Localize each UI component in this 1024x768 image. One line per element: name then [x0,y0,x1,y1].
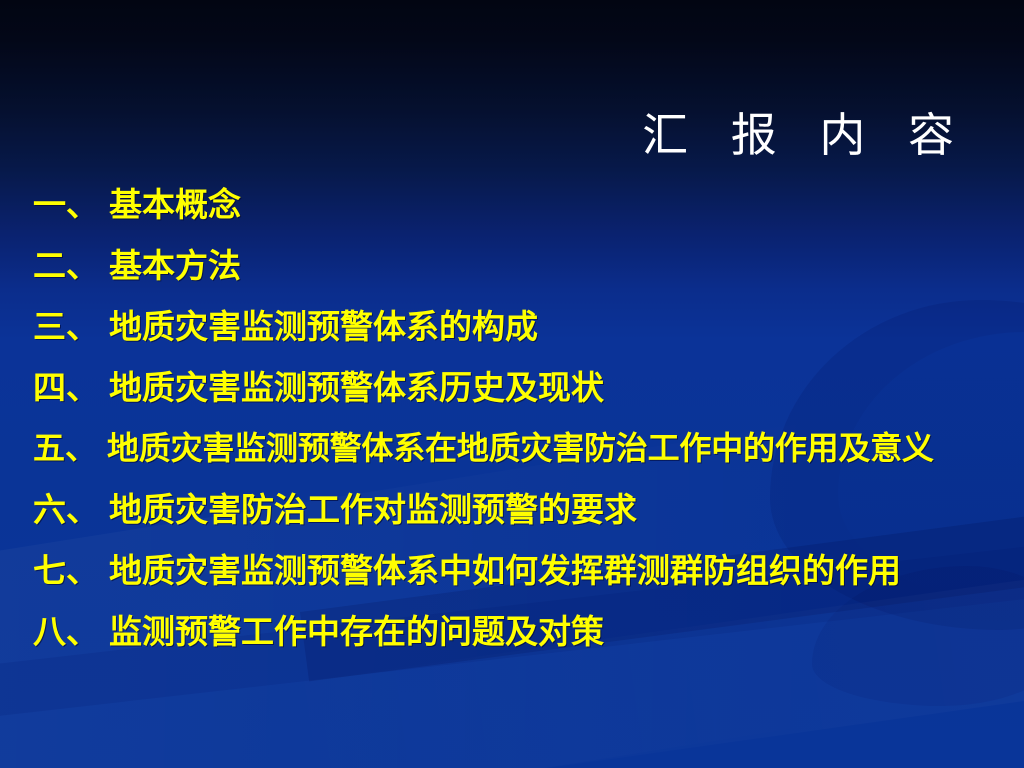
agenda-item: 六、地质灾害防治工作对监测预警的要求 [0,479,1024,540]
agenda-item: 一、基本概念 [0,174,1024,235]
agenda-item-marker: 六、 [33,490,99,529]
agenda-list: 一、基本概念 二、基本方法 三、地质灾害监测预警体系的构成 四、地质灾害监测预警… [0,174,1024,662]
agenda-item-label: 地质灾害监测预警体系历史及现状 [109,368,604,407]
agenda-item: 四、地质灾害监测预警体系历史及现状 [0,357,1024,418]
agenda-item: 二、基本方法 [0,235,1024,296]
agenda-item-label: 监测预警工作中存在的问题及对策 [109,612,604,651]
presentation-slide: 汇 报 内 容 一、基本概念 二、基本方法 三、地质灾害监测预警体系的构成 四、… [0,0,1024,768]
slide-title: 汇 报 内 容 [0,108,968,162]
agenda-item-marker: 二、 [33,246,99,285]
agenda-item-marker: 八、 [33,612,99,651]
agenda-item-label: 地质灾害防治工作对监测预警的要求 [109,490,637,529]
agenda-item-marker: 五、 [33,429,97,467]
agenda-item: 三、地质灾害监测预警体系的构成 [0,296,1024,357]
agenda-item-label: 基本方法 [109,246,241,285]
agenda-item-label: 地质灾害监测预警体系在地质灾害防治工作中的作用及意义 [107,429,934,467]
agenda-item-label: 基本概念 [109,185,241,224]
agenda-item: 七、地质灾害监测预警体系中如何发挥群测群防组织的作用 [0,540,1024,601]
agenda-item-marker: 七、 [33,551,99,590]
agenda-item: 五、地质灾害监测预警体系在地质灾害防治工作中的作用及意义 [0,418,1024,479]
agenda-item-label: 地质灾害监测预警体系中如何发挥群测群防组织的作用 [109,551,901,590]
agenda-item-marker: 四、 [33,368,99,407]
agenda-item-marker: 三、 [33,307,99,346]
agenda-item-label: 地质灾害监测预警体系的构成 [109,307,538,346]
agenda-item: 八、监测预警工作中存在的问题及对策 [0,601,1024,662]
agenda-item-marker: 一、 [33,185,99,224]
